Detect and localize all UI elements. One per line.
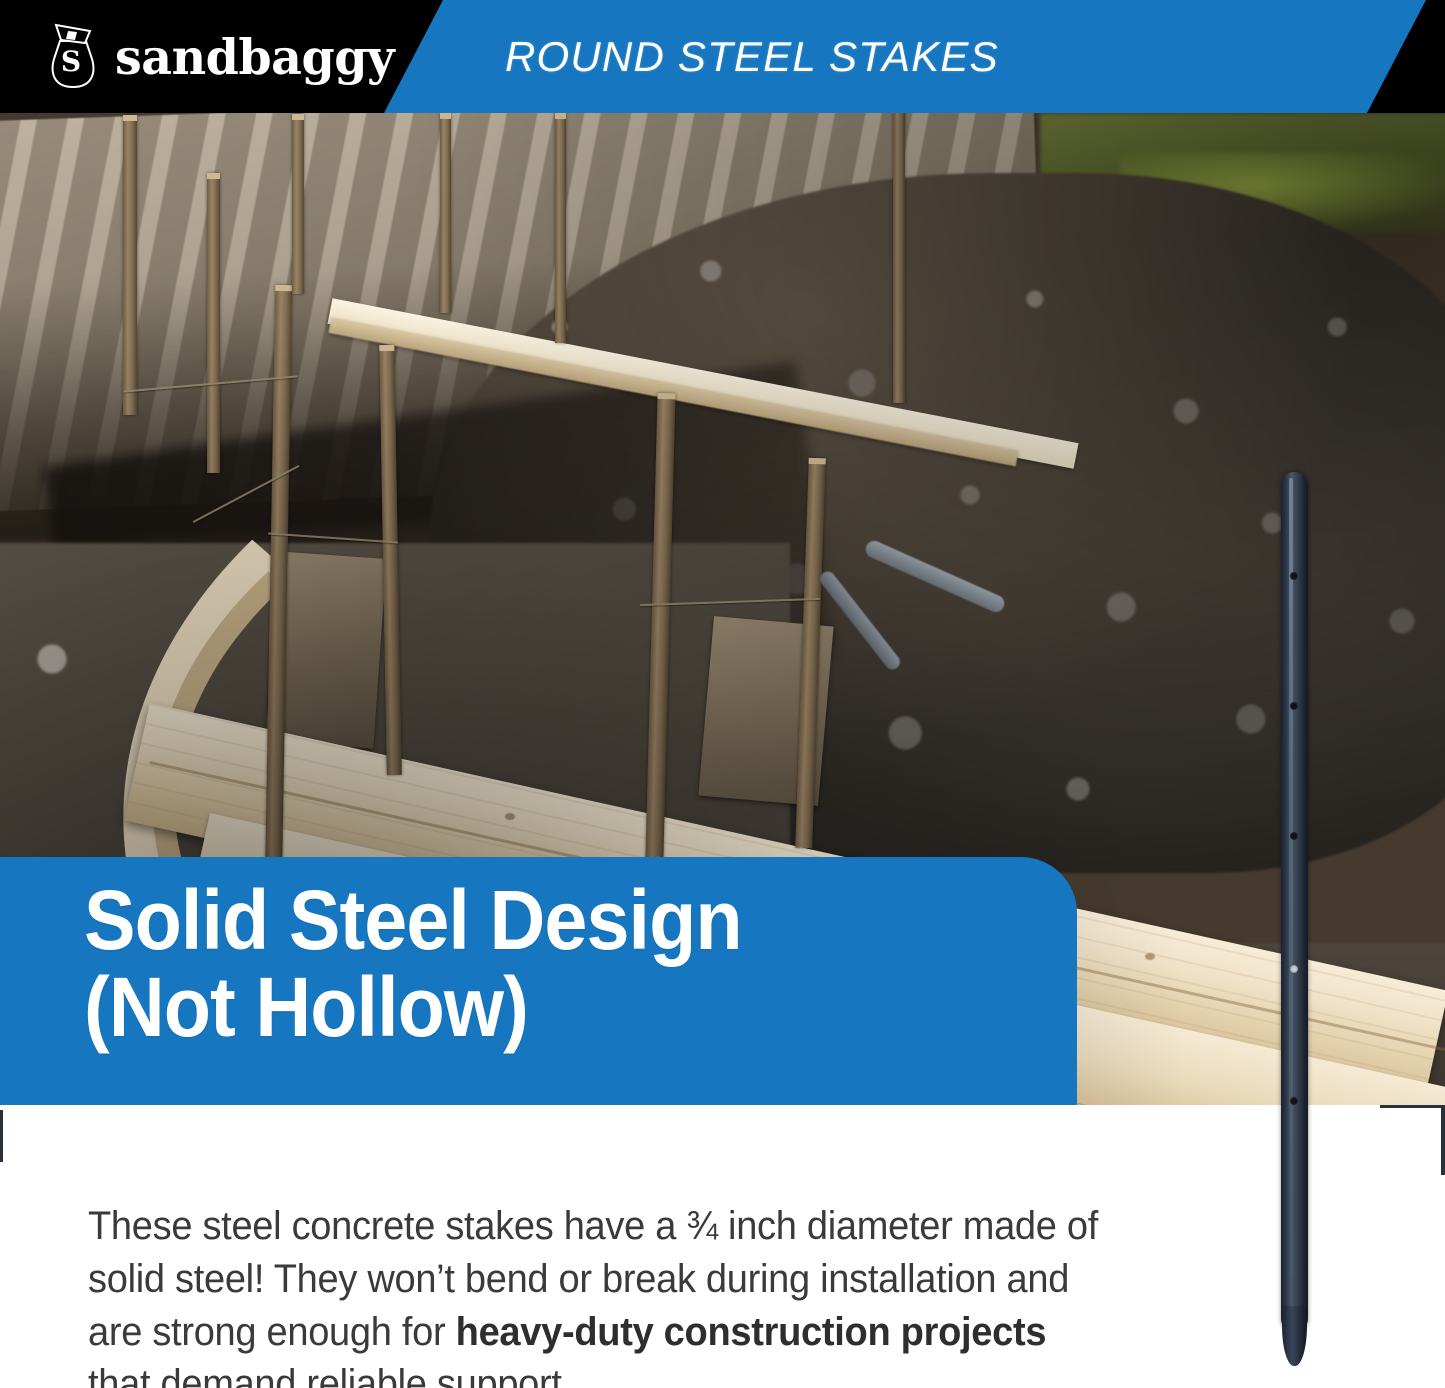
- header-title: ROUND STEEL STAKES: [505, 33, 999, 81]
- svg-text:S: S: [61, 45, 81, 78]
- body-edge-left: [0, 1110, 3, 1162]
- photo-wooden-stake: [893, 113, 905, 403]
- header-bar: S sandbaggy ROUND STEEL STAKES: [0, 0, 1445, 113]
- photo-wooden-stake: [207, 173, 220, 473]
- body-paragraph: These steel concrete stakes have a ¾ inc…: [88, 1200, 1114, 1388]
- body-text-part2: that demand reliable support.: [88, 1362, 572, 1388]
- brand-wordmark: sandbaggy: [115, 33, 394, 82]
- steel-stake-shaft: [1281, 472, 1308, 1332]
- steel-stake-hole: [1290, 832, 1298, 840]
- brand-logo: S sandbaggy: [44, 18, 403, 96]
- round-steel-stake-product: [1281, 472, 1308, 1352]
- steel-stake-hole: [1290, 572, 1298, 580]
- photo-wooden-stake: [123, 115, 137, 415]
- photo-wood-knot: [505, 813, 515, 820]
- infographic-page: S sandbaggy ROUND STEEL STAKES: [0, 0, 1445, 1388]
- headline-panel: Solid Steel Design (Not Hollow): [0, 857, 1077, 1105]
- steel-stake-hole: [1290, 965, 1298, 973]
- sandbag-icon: S: [44, 21, 102, 93]
- body-edge-top-right: [1380, 1105, 1445, 1108]
- photo-wooden-stake: [555, 113, 566, 343]
- photo-wood-knot: [1145, 953, 1155, 960]
- photo-wooden-stake: [292, 114, 304, 294]
- body-text-bold: heavy-duty construction projects: [456, 1310, 1047, 1354]
- photo-wooden-stake: [440, 113, 451, 313]
- steel-stake-hole: [1290, 1097, 1298, 1105]
- steel-stake-hole: [1290, 702, 1298, 710]
- body-edge-right: [1441, 1105, 1445, 1175]
- page-title: Solid Steel Design (Not Hollow): [84, 877, 742, 1052]
- steel-stake-highlight: [1289, 478, 1293, 1278]
- body-section: These steel concrete stakes have a ¾ inc…: [0, 1105, 1445, 1388]
